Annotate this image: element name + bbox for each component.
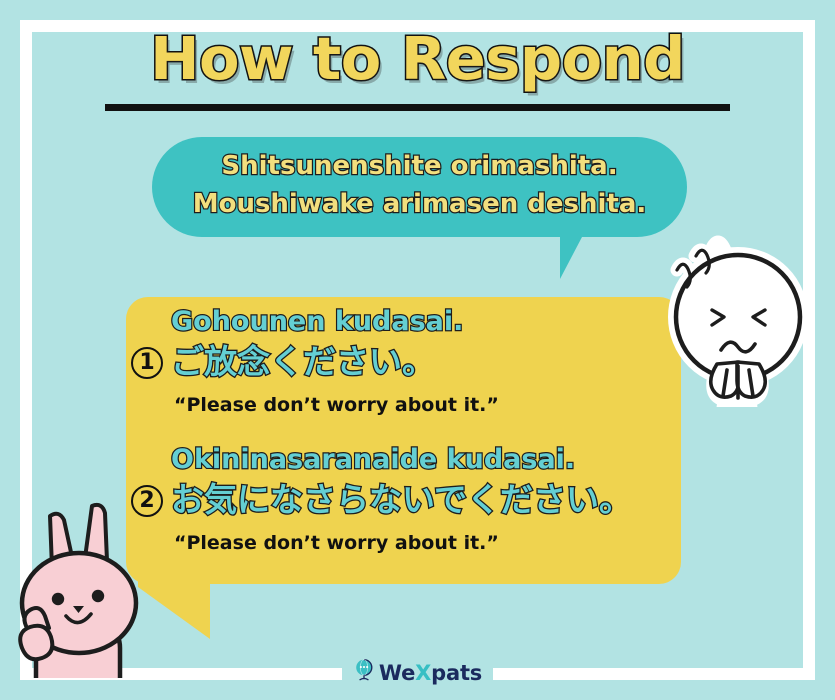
response-item-1: Gohounen kudasai. 1 ご放念ください。 “Please don… xyxy=(126,305,681,416)
page-title: How to Respond xyxy=(0,28,835,90)
response-japanese-row: 1 ご放念ください。 xyxy=(126,340,681,390)
response-japanese: ご放念ください。 xyxy=(171,340,435,385)
response-item-2: Okininasaranaide kudasai. 2 お気になさらないでくださ… xyxy=(126,443,681,554)
logo-text-we: We xyxy=(379,661,415,685)
rabbit-character-icon xyxy=(8,498,153,678)
logo-text-pats: pats xyxy=(431,661,482,685)
speech-bubble-line-1: Shitsunenshite orimashita. xyxy=(152,148,687,186)
response-japanese-row: 2 お気になさらないでください。 xyxy=(126,478,681,528)
title-underline xyxy=(105,104,730,111)
response-number-badge: 1 xyxy=(131,347,163,379)
response-english: “Please don’t worry about it.” xyxy=(174,532,681,554)
speech-bubble-text: Shitsunenshite orimashita. Moushiwake ar… xyxy=(152,148,687,224)
apologizing-character-icon xyxy=(655,232,820,407)
response-romaji: Okininasaranaide kudasai. xyxy=(171,443,681,477)
speech-bubble-line-2: Moushiwake arimasen deshita. xyxy=(152,186,687,224)
wexpats-logo[interactable]: We X pats xyxy=(0,655,835,690)
page-title-text: How to Respond xyxy=(150,28,685,90)
response-english: “Please don’t worry about it.” xyxy=(174,394,681,416)
response-japanese: お気になさらないでください。 xyxy=(171,478,632,523)
poster-canvas: How to Respond Shitsunenshite orimashita… xyxy=(0,0,835,700)
response-romaji: Gohounen kudasai. xyxy=(171,305,681,339)
globe-speech-icon xyxy=(353,658,375,687)
wexpats-logo-plate: We X pats xyxy=(342,655,493,690)
logo-text-x: X xyxy=(415,661,431,685)
